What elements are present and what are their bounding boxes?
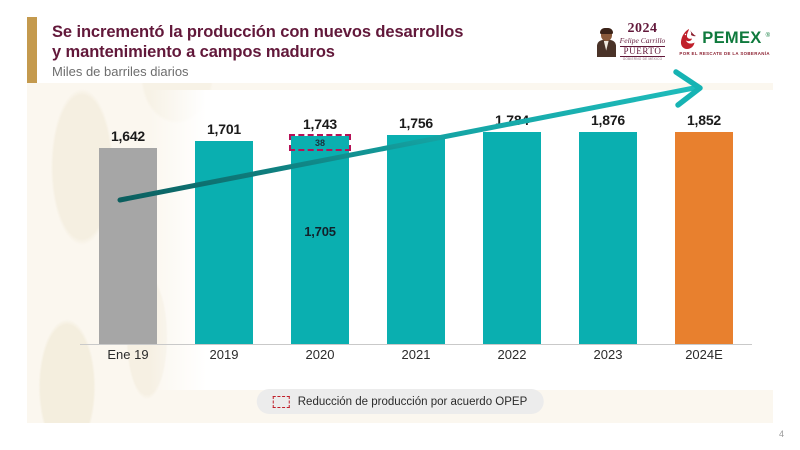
- logo-place-name: PUERTO: [620, 46, 666, 57]
- bar-rect[interactable]: 381,705: [291, 136, 349, 343]
- bar-chart: 1,6421,7011,743381,7051,7561,7841,8761,8…: [27, 83, 773, 373]
- bar-group[interactable]: 1,642: [80, 112, 176, 344]
- logo-person-name: Felipe Carrillo: [620, 37, 666, 45]
- bar-value-label: 1,743: [303, 116, 337, 132]
- page-title-line-2: y mantenimiento a campos maduros: [52, 42, 572, 62]
- x-axis-tick-label: 2019: [176, 347, 272, 371]
- bar-value-label: 1,701: [207, 121, 241, 137]
- bar-rect[interactable]: [195, 141, 253, 343]
- bar-rect[interactable]: [99, 148, 157, 343]
- page-title-line-1: Se incrementó la producción con nuevos d…: [52, 22, 572, 42]
- felipe-carrillo-portrait-icon: [596, 27, 617, 57]
- gobierno-logo-text: 2024 Felipe Carrillo PUERTO GOBIERNO DE …: [620, 22, 666, 61]
- bar-inner-value-label: 1,705: [291, 224, 349, 239]
- pemex-registered-mark: ®: [766, 33, 770, 39]
- title-block: Se incrementó la producción con nuevos d…: [52, 22, 572, 80]
- bar-rect[interactable]: [675, 132, 733, 344]
- page-subtitle: Miles de barriles diarios: [52, 63, 572, 80]
- bar-group[interactable]: 1,756: [368, 112, 464, 344]
- x-axis-tick-label: 2022: [464, 347, 560, 371]
- x-axis-tick-label: 2024E: [656, 347, 752, 371]
- bar-group[interactable]: 1,876: [560, 112, 656, 344]
- pemex-logo-row: PEMEX ®: [679, 28, 770, 50]
- x-axis-tick-label: 2023: [560, 347, 656, 371]
- bar-value-label: 1,642: [111, 128, 145, 144]
- logo-group: 2024 Felipe Carrillo PUERTO GOBIERNO DE …: [596, 22, 770, 61]
- bar-group[interactable]: 1,852: [656, 112, 752, 344]
- gobierno-2024-logo: 2024 Felipe Carrillo PUERTO GOBIERNO DE …: [596, 22, 666, 61]
- x-axis-tick-label: Ene 19: [80, 347, 176, 371]
- legend-label: Reducción de producción por acuerdo OPEP: [298, 396, 528, 408]
- legend-dashed-swatch-icon: [273, 396, 290, 408]
- pemex-tagline: POR EL RESCATE DE LA SOBERANÍA: [679, 51, 769, 56]
- slide-root: Se incrementó la producción con nuevos d…: [0, 0, 800, 450]
- x-axis-tick-label: 2021: [368, 347, 464, 371]
- opep-reduction-value: 38: [315, 138, 325, 148]
- x-axis-labels: Ene 19201920202021202220232024E: [80, 347, 752, 371]
- legend-opep: Reducción de producción por acuerdo OPEP: [257, 389, 544, 414]
- opep-reduction-box: 38: [289, 134, 351, 151]
- pemex-logo: PEMEX ® POR EL RESCATE DE LA SOBERANÍA: [679, 28, 770, 56]
- pemex-eagle-icon: [679, 28, 699, 50]
- logo-year: 2024: [620, 22, 666, 36]
- bar-value-label: 1,756: [399, 115, 433, 131]
- bar-rect[interactable]: [579, 132, 637, 344]
- bar-group[interactable]: 1,701: [176, 112, 272, 344]
- chart-baseline-axis: [80, 344, 752, 346]
- bar-value-label: 1,784: [495, 112, 529, 128]
- logo-footer-text: GOBIERNO DE MÉXICO: [620, 58, 666, 61]
- bar-series-container: 1,6421,7011,743381,7051,7561,7841,8761,8…: [80, 112, 752, 344]
- bar-rect[interactable]: [387, 135, 445, 344]
- pemex-wordmark: PEMEX: [702, 29, 761, 48]
- page-number: 4: [779, 429, 784, 439]
- bar-value-label: 1,852: [687, 112, 721, 128]
- bar-group[interactable]: 1,743381,705: [272, 112, 368, 344]
- bar-group[interactable]: 1,784: [464, 112, 560, 344]
- gold-accent-bar: [27, 17, 37, 83]
- bar-rect[interactable]: [483, 132, 541, 344]
- x-axis-tick-label: 2020: [272, 347, 368, 371]
- bar-value-label: 1,876: [591, 112, 625, 128]
